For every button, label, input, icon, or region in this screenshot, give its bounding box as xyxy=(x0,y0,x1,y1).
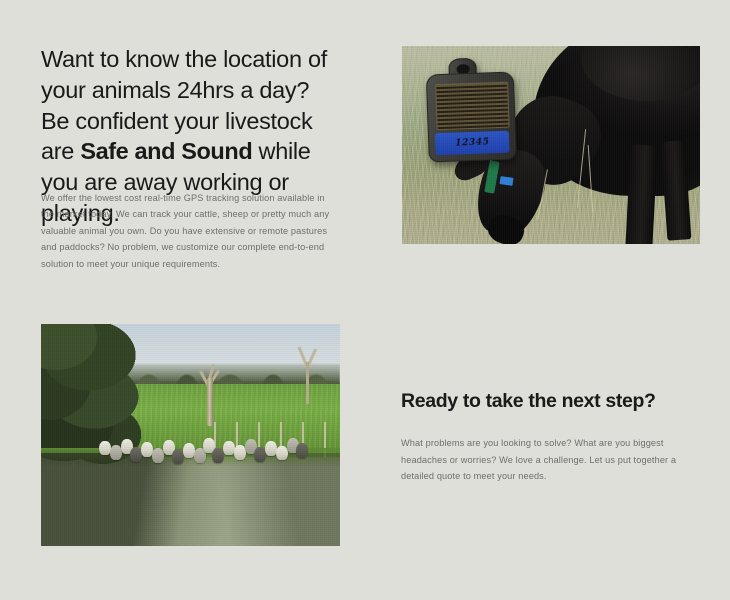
dead-tree-right xyxy=(295,346,319,404)
top-paragraph: We offer the lowest cost real-time GPS t… xyxy=(41,190,337,272)
next-step-paragraph: What problems are you looking to solve? … xyxy=(401,435,693,484)
section-livestock-tracking: Want to know the location of your animal… xyxy=(0,0,730,300)
top-paragraph-wrapper: We offer the lowest cost real-time GPS t… xyxy=(41,190,337,272)
dead-tree-center xyxy=(196,364,223,426)
ear-tag-blue xyxy=(500,176,514,186)
sheep xyxy=(130,447,142,462)
gps-tag-solar-panel xyxy=(435,81,509,130)
sheep xyxy=(99,441,111,456)
cow-photo: 12345 xyxy=(402,46,700,244)
headline-line-1: Want to know the location of xyxy=(41,46,327,72)
sheep xyxy=(276,446,288,461)
dead-tree-trunk xyxy=(207,378,213,426)
sheep xyxy=(265,441,277,456)
sheep-photo xyxy=(41,324,340,546)
dead-tree-trunk xyxy=(306,362,309,404)
page-root: Want to know the location of your animal… xyxy=(0,0,730,600)
bottom-text-column: Ready to take the next step? What proble… xyxy=(401,390,693,485)
gps-tracker-tag-graphic: 12345 xyxy=(426,56,516,160)
headline-emphasis: Safe and Sound xyxy=(80,138,252,164)
sheep xyxy=(254,447,266,462)
gps-tag-id-label: 12345 xyxy=(435,130,510,155)
sheep xyxy=(110,445,122,460)
sheep xyxy=(152,448,164,463)
sheep xyxy=(183,443,195,458)
sheep xyxy=(172,449,184,464)
sheep xyxy=(296,443,308,458)
sheep xyxy=(141,442,153,457)
sheep-scene xyxy=(41,324,340,546)
gps-tag-id-number: 12345 xyxy=(455,137,490,148)
sheep-flock xyxy=(95,433,316,469)
next-step-heading: Ready to take the next step? xyxy=(401,390,693,413)
sheep xyxy=(234,445,246,460)
gps-tag-shell: 12345 xyxy=(426,71,517,162)
sheep xyxy=(223,441,235,456)
sheep xyxy=(212,448,224,463)
cow-scene: 12345 xyxy=(402,46,700,244)
